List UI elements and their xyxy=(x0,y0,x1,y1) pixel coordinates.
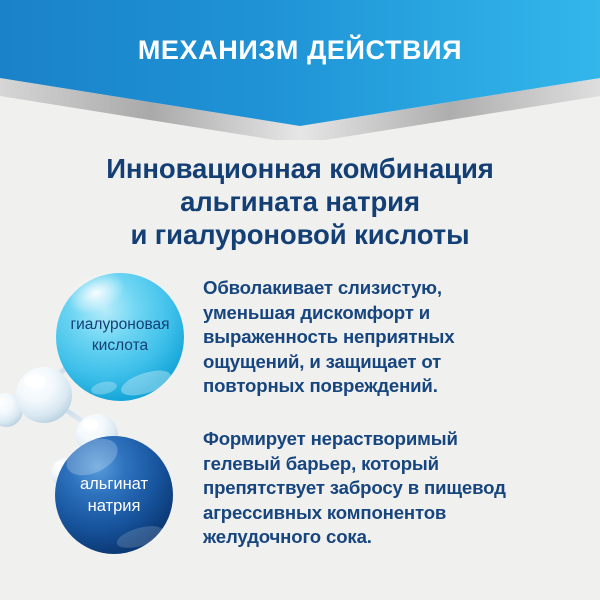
paragraph-coating-line-3: выраженность неприятных xyxy=(203,325,593,350)
header-banner-shape xyxy=(0,0,600,140)
promo-poster: МЕХАНИЗМ ДЕЙСТВИЯ Инновационная комбинац… xyxy=(0,0,600,600)
headline-line-2: альгината натрия xyxy=(30,185,570,218)
paragraph-coating-line-2: уменьшая дискомфорт и xyxy=(203,301,593,326)
sphere-alginate-label-line2: натрия xyxy=(88,497,141,515)
paragraph-coating-line-5: повторных повреждений. xyxy=(203,374,593,399)
page-title: МЕХАНИЗМ ДЕЙСТВИЯ xyxy=(0,33,600,67)
header-banner: МЕХАНИЗМ ДЕЙСТВИЯ xyxy=(0,0,600,140)
molecule-illustration: гиалуроновая кислота альгинат натрия xyxy=(0,255,210,575)
sphere-hyaluronic-acid: гиалуроновая кислота xyxy=(56,264,184,401)
paragraph-coating-line-4: ощущений, и защищает от xyxy=(203,350,593,375)
paragraph-barrier: Формирует нерастворимый гелевый барьер, … xyxy=(203,427,593,550)
paragraph-coating: Обволакивает слизистую, уменьшая дискомф… xyxy=(203,276,593,399)
paragraph-coating-line-1: Обволакивает слизистую, xyxy=(203,276,593,301)
sphere-hyaluronic-label-line2: кислота xyxy=(92,337,149,354)
headline-line-1: Инновационная комбинация xyxy=(30,152,570,185)
body-text-column: Обволакивает слизистую, уменьшая дискомф… xyxy=(203,276,593,550)
paragraph-barrier-line-1: Формирует нерастворимый xyxy=(203,427,593,452)
headline: Инновационная комбинация альгината натри… xyxy=(30,152,570,251)
sphere-hyaluronic-label-line1: гиалуроновая xyxy=(70,316,169,333)
paragraph-barrier-line-5: желудочного сока. xyxy=(203,525,593,550)
headline-line-3: и гиалуроновой кислоты xyxy=(30,218,570,251)
paragraph-barrier-line-4: агрессивных компонентов xyxy=(203,501,593,526)
paragraph-barrier-line-2: гелевый барьер, который xyxy=(203,452,593,477)
paragraph-barrier-line-3: препятствует забросу в пищевод xyxy=(203,476,593,501)
white-atom-large xyxy=(16,367,72,423)
sphere-sodium-alginate: альгинат натрия xyxy=(55,431,173,554)
sphere-alginate-label-line1: альгинат xyxy=(80,475,149,493)
